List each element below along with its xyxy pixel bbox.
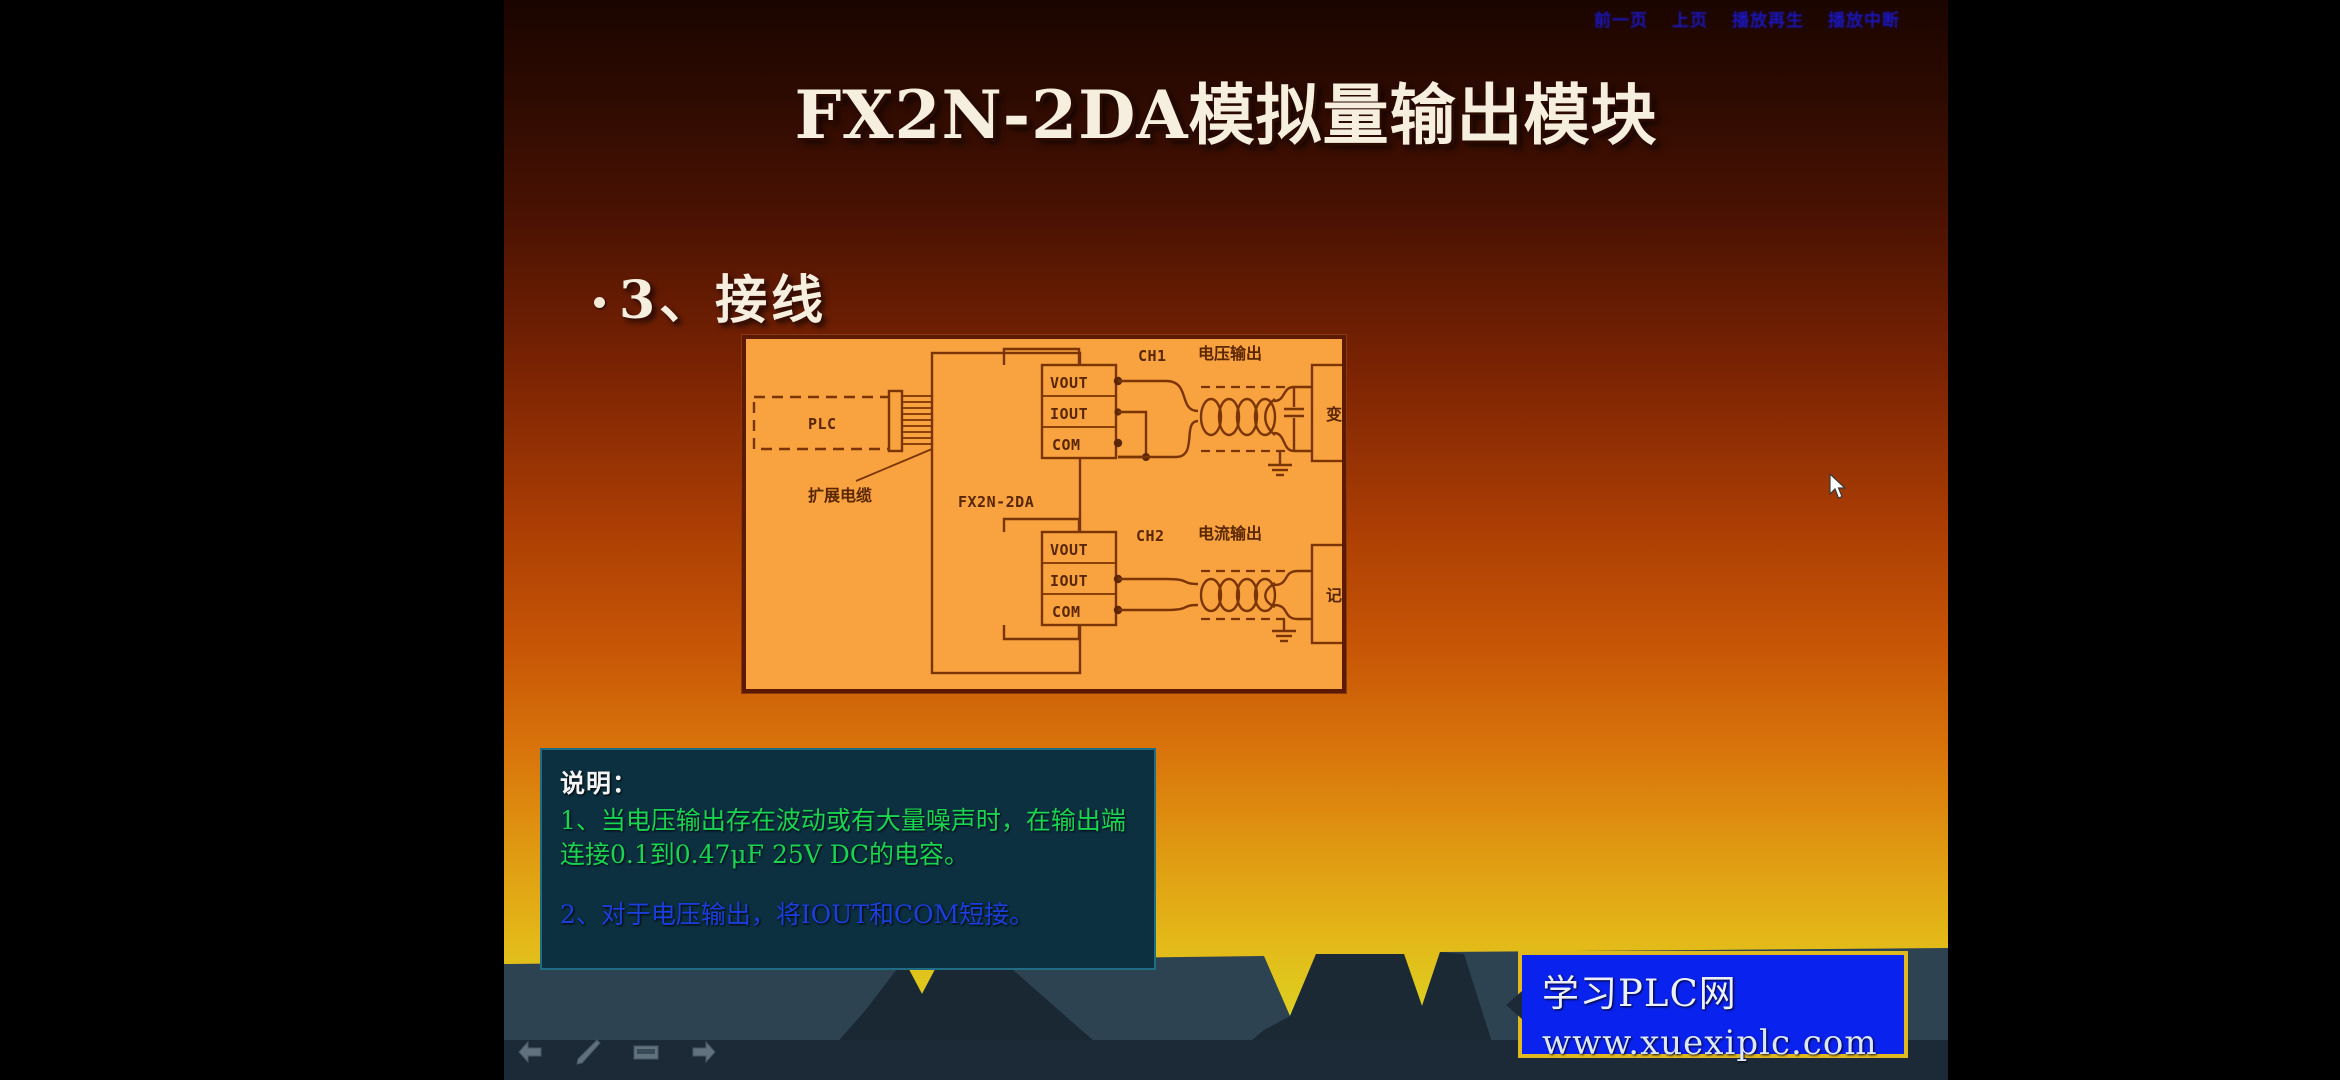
presentation-slide: 前一页 上页 播放再生 播放中断 FX2N-2DA模拟量输出模块 3、接线 .l… [504, 0, 1948, 1080]
diagram-label-current-output: 电流输出 [1198, 524, 1262, 543]
diagram-terminal-ch2-com: COM [1052, 603, 1081, 621]
letterbox-right [1948, 0, 2340, 1080]
slideshow-toolbar[interactable] [514, 1036, 720, 1068]
diagram-label-extension-cable: 扩展电缆 [808, 486, 872, 505]
note-line-1: 1、当电压输出存在波动或有大量噪声时，在输出端连接0.1到0.47μF 25V … [560, 804, 1136, 872]
diagram-terminal-ch1-iout: IOUT [1050, 405, 1088, 423]
bullet-item-label: 3、接线 [619, 258, 827, 333]
diagram-terminal-ch1-com: COM [1052, 436, 1081, 454]
watermark-site-name: 学习PLC网 [1542, 963, 1890, 1017]
nav-prev-page[interactable]: 前一页 [1594, 6, 1648, 31]
pen-icon[interactable] [572, 1036, 604, 1068]
screenshot-root: 前一页 上页 播放再生 播放中断 FX2N-2DA模拟量输出模块 3、接线 .l… [0, 0, 2340, 1080]
note-line-2: 2、对于电压输出，将IOUT和COM短接。 [560, 898, 1136, 932]
nav-play-pause[interactable]: 播放中断 [1828, 6, 1900, 31]
bullet-item: 3、接线 [594, 258, 827, 333]
forward-arrow-icon[interactable] [688, 1036, 720, 1068]
back-arrow-icon[interactable] [514, 1036, 546, 1068]
wiring-diagram-svg: .ln { stroke:#7a3503; stroke-width:2.4; … [746, 339, 1342, 689]
diagram-label-voltage-output: 电压输出 [1198, 344, 1262, 363]
diagram-terminal-ch2-iout: IOUT [1050, 572, 1088, 590]
diagram-label-load-ch2: 记录器等 [1326, 586, 1342, 605]
diagram-terminal-ch1-vout: VOUT [1050, 374, 1088, 392]
nav-play-resume[interactable]: 播放再生 [1732, 6, 1804, 31]
diagram-label-module: FX2N-2DA [958, 493, 1034, 511]
wiring-diagram: .ln { stroke:#7a3503; stroke-width:2.4; … [742, 335, 1346, 693]
diagram-label-ch2: CH2 [1136, 527, 1165, 545]
diagram-label-load-ch1: 变频器等 [1326, 405, 1342, 424]
slide-top-navigation[interactable]: 前一页 上页 播放再生 播放中断 [1594, 6, 1900, 31]
watermark-notch-icon [1506, 991, 1522, 1019]
explanation-note-box: 说明： 1、当电压输出存在波动或有大量噪声时，在输出端连接0.1到0.47μF … [540, 748, 1156, 970]
diagram-label-ch1: CH1 [1138, 347, 1167, 365]
diagram-label-plc: PLC [808, 415, 837, 433]
diagram-terminal-ch2-vout: VOUT [1050, 541, 1088, 559]
bullet-dot-icon [594, 297, 605, 308]
screen-icon[interactable] [630, 1036, 662, 1068]
letterbox-left [0, 0, 504, 1080]
watermark-site-url: www.xuexiplc.com [1542, 1023, 1890, 1063]
watermark-logo: 学习PLC网 www.xuexiplc.com [1518, 951, 1908, 1058]
page-title: FX2N-2DA模拟量输出模块 [504, 62, 1948, 158]
mouse-cursor-icon [1829, 473, 1849, 501]
note-heading: 说明： [560, 764, 1136, 800]
nav-page-up[interactable]: 上页 [1672, 6, 1708, 31]
